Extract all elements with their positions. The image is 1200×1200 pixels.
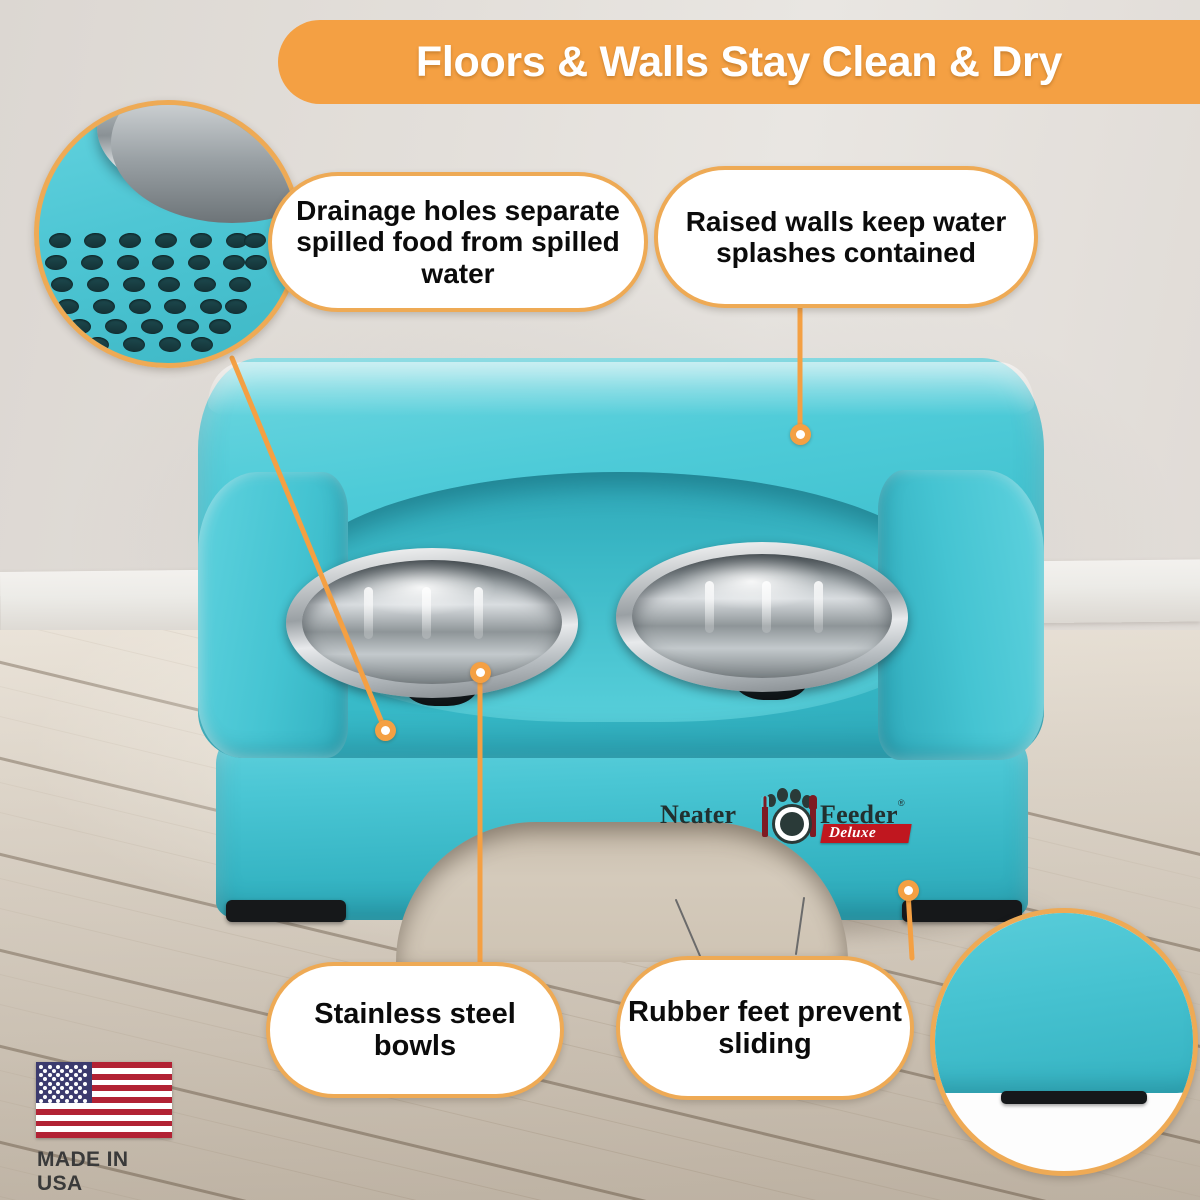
leader-dot-bowls [470,662,491,683]
banner-title: Floors & Walls Stay Clean & Dry [416,38,1062,87]
flag-stripe [36,1132,172,1138]
flag-star [39,1099,43,1103]
flag-star [52,1077,56,1081]
flag-star [74,1065,78,1069]
callout-walls-text: Raised walls keep water splashes contain… [658,206,1034,269]
flag-star [56,1082,60,1086]
inset-rubber-feet-detail [930,908,1198,1176]
drainage-hole [81,255,104,271]
drainage-hole [49,232,72,248]
deluxe-badge: Deluxe [820,824,911,843]
flag-star [39,1090,43,1094]
us-flag-icon [36,1062,172,1138]
flag-star [69,1086,73,1090]
flag-star [83,1065,87,1069]
drainage-hole [225,299,247,314]
flag-star [48,1090,52,1094]
flag-star [39,1073,43,1077]
neater-feeder-product: Neater Feeder ® Deluxe [178,352,1058,932]
flag-star [65,1082,69,1086]
flag-star [65,1099,69,1103]
flag-star [60,1086,64,1090]
drainage-hole [158,277,180,292]
flag-star [74,1082,78,1086]
flag-star [83,1090,87,1094]
drainage-hole [191,336,214,352]
drainage-hole [188,255,211,271]
made-in-usa-label: MADE IN USA [37,1148,178,1196]
drainage-hole [152,255,175,271]
infographic-stage: Neater Feeder ® Deluxe [0,0,1200,1200]
inset-bowl-rim [97,100,302,203]
paw-plate-fork-knife-icon [760,788,818,840]
flag-star [65,1065,69,1069]
flag-star [39,1065,43,1069]
drainage-hole [119,232,142,248]
flag-star [78,1086,82,1090]
fork-icon [762,801,768,837]
inset-drainage-detail [34,100,302,368]
logo-word-neater: Neater [660,800,736,830]
flag-star [43,1077,47,1081]
flag-star [65,1090,69,1094]
stainless-bowl-right [616,542,908,692]
leader-dot-drainage [375,720,396,741]
rubber-foot-left [226,900,346,922]
drainage-hole [123,336,146,352]
flag-star [39,1082,43,1086]
callout-drainage-holes: Drainage holes separate spilled food fro… [268,172,648,312]
drainage-hole [87,277,109,292]
callout-feet-text: Rubber feet prevent sliding [620,996,910,1061]
flag-star [65,1073,69,1077]
drainage-hole [129,299,151,314]
callout-drainage-text: Drainage holes separate spilled food fro… [272,195,644,289]
header-banner: Floors & Walls Stay Clean & Dry [278,20,1200,104]
drainage-hole [123,277,145,292]
drainage-hole [69,319,92,335]
flag-star [60,1095,64,1099]
flag-star [43,1086,47,1090]
bowl-cavity-left [302,560,562,684]
leader-dot-feet [898,880,919,901]
flag-star [69,1077,73,1081]
flag-star [60,1077,64,1081]
flag-star [69,1095,73,1099]
flag-star [48,1065,52,1069]
flag-star [74,1090,78,1094]
inset-base-body [930,908,1198,1093]
drainage-hole [105,319,128,335]
flag-star [83,1082,87,1086]
flag-star [74,1073,78,1077]
callout-stainless-bowls: Stainless steel bowls [266,962,564,1098]
flag-star [60,1069,64,1073]
drainage-hole [45,255,68,271]
drainage-hole [223,255,246,271]
deluxe-label: Deluxe [828,825,876,842]
drainage-hole [177,319,200,335]
flag-star [78,1077,82,1081]
registered-mark: ® [898,798,905,808]
drainage-hole [245,255,268,271]
callout-rubber-feet: Rubber feet prevent sliding [616,956,914,1100]
drainage-hole [244,232,267,248]
drainage-hole [190,232,213,248]
made-in-usa-badge: MADE IN USA [36,1062,178,1180]
flag-star [48,1073,52,1077]
drainage-hole [51,277,73,292]
flag-star [43,1095,47,1099]
callout-raised-walls: Raised walls keep water splashes contain… [654,166,1038,308]
drainage-hole [117,255,140,271]
flag-star [43,1069,47,1073]
flag-star [52,1095,56,1099]
bowl-cavity-right [632,554,892,678]
stainless-bowl-left [286,548,578,698]
inset-rubber-strip [1001,1091,1147,1104]
flag-star [56,1065,60,1069]
drainage-hole [57,299,79,314]
neater-feeder-logo: Neater Feeder ® Deluxe [660,790,922,846]
flag-star [48,1082,52,1086]
drainage-hole [164,299,186,314]
leader-dot-walls [790,424,811,445]
flag-star [83,1099,87,1103]
flag-canton [36,1062,92,1103]
flag-star [52,1069,56,1073]
flag-star [52,1086,56,1090]
flag-star [83,1073,87,1077]
flag-star [78,1069,82,1073]
plate-icon [772,804,812,844]
drainage-hole [141,319,164,335]
flag-star [56,1090,60,1094]
drainage-hole [229,277,251,292]
drainage-hole [200,299,222,314]
flag-star [78,1095,82,1099]
drainage-hole [159,336,182,352]
callout-bowls-text: Stainless steel bowls [270,998,560,1063]
drainage-hole [209,319,232,335]
drainage-hole [155,232,178,248]
basin-rim-highlight [208,362,1034,416]
flag-star [48,1099,52,1103]
flag-star [74,1099,78,1103]
drainage-hole [93,299,115,314]
drainage-hole [84,232,107,248]
drainage-hole [194,277,216,292]
flag-star [69,1069,73,1073]
flag-star [56,1099,60,1103]
